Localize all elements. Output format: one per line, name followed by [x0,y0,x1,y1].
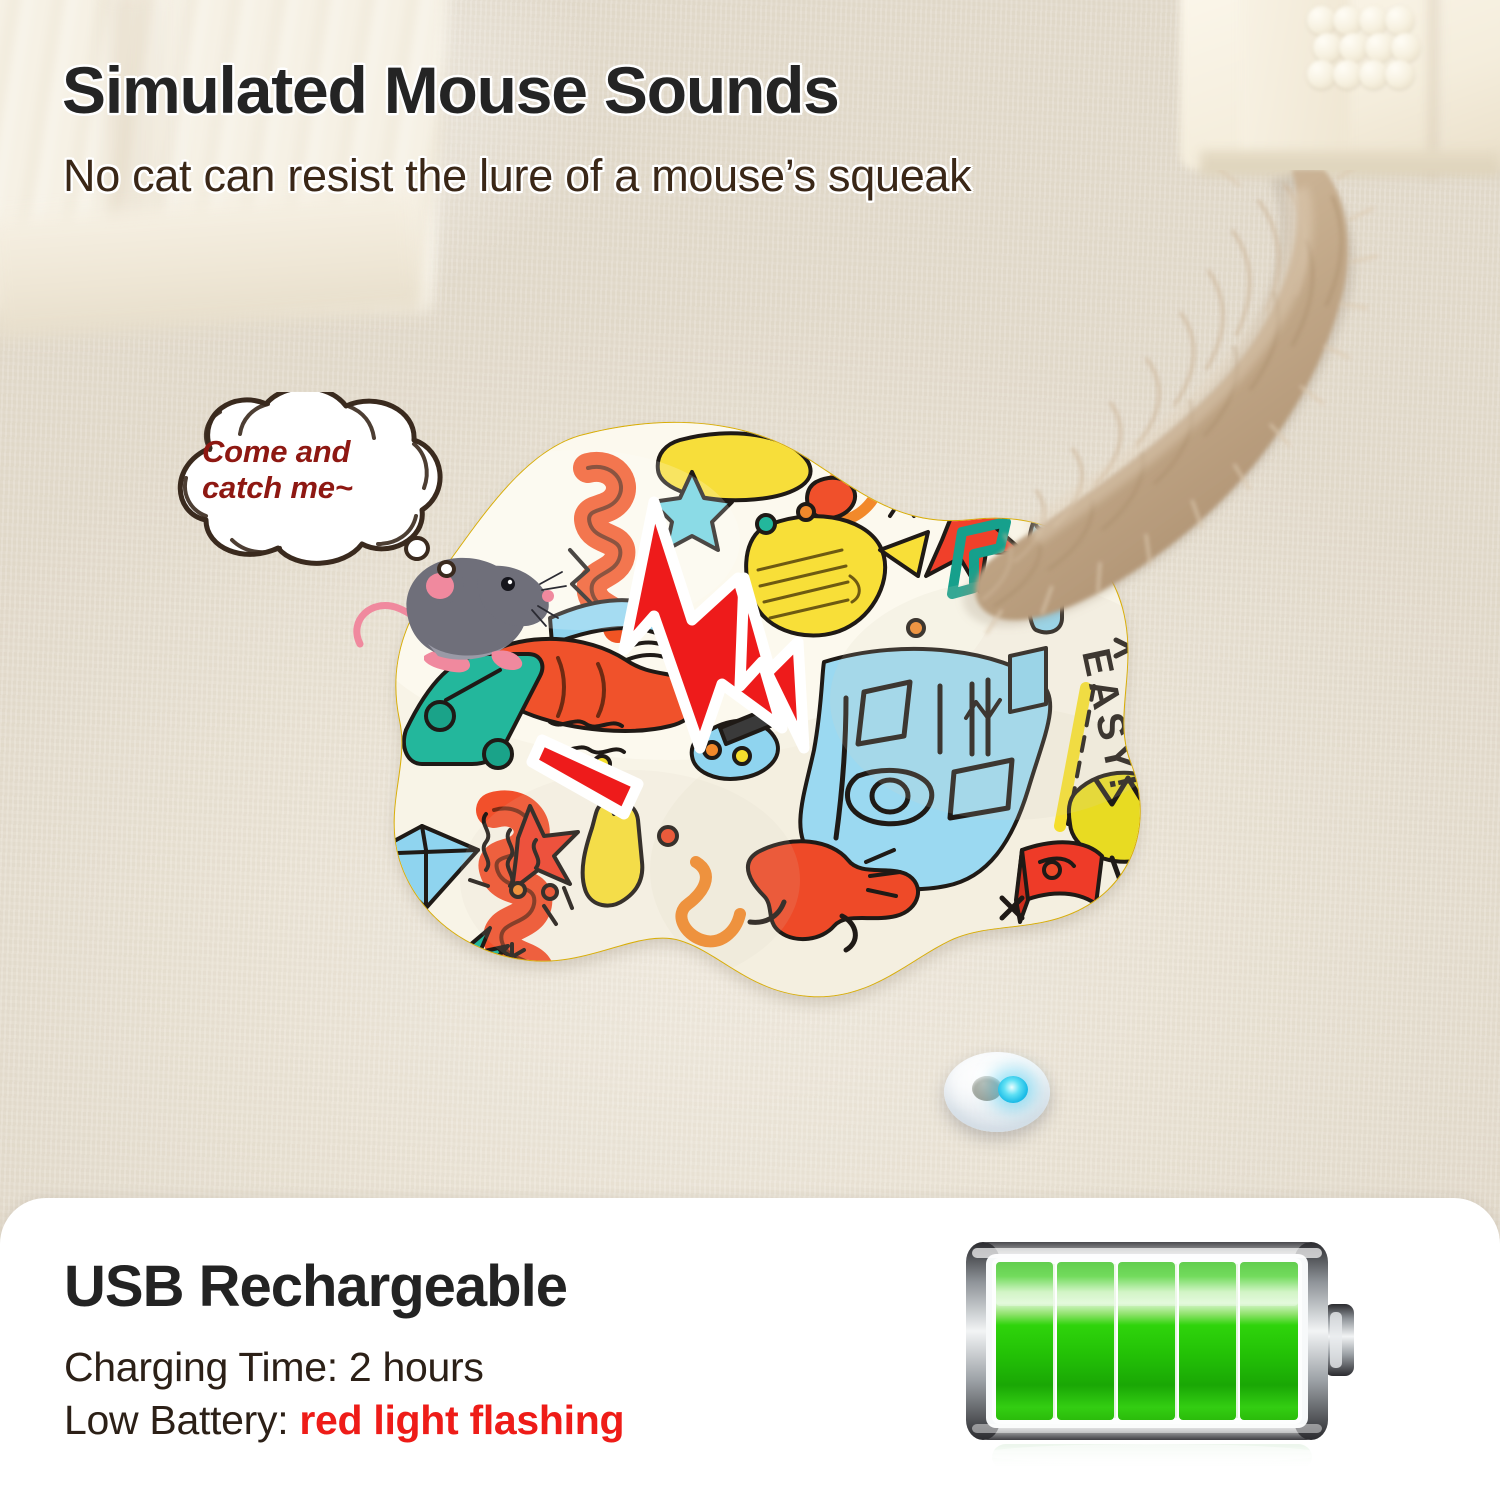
sound-device-puck[interactable] [944,1052,1050,1132]
panel-title: USB Rechargeable [64,1253,567,1320]
page-title: Simulated Mouse Sounds [62,52,839,128]
led-indicator-icon [998,1076,1028,1103]
low-battery-status: red light flashing [299,1397,624,1443]
cat-tail [940,170,1390,670]
low-battery-line: Low Battery: red light flashing [64,1397,624,1444]
thought-bubble-text: Come and catch me~ [202,434,422,506]
usb-rechargeable-panel: USB Rechargeable Charging Time: 2 hours … [0,1198,1500,1500]
battery-full-icon [952,1226,1382,1474]
page-subtitle: No cat can resist the lure of a mouse’s … [63,150,971,202]
charging-time-line: Charging Time: 2 hours [64,1344,484,1391]
bubble-candle-decor [1307,6,1415,101]
low-battery-label: Low Battery: [64,1397,299,1443]
